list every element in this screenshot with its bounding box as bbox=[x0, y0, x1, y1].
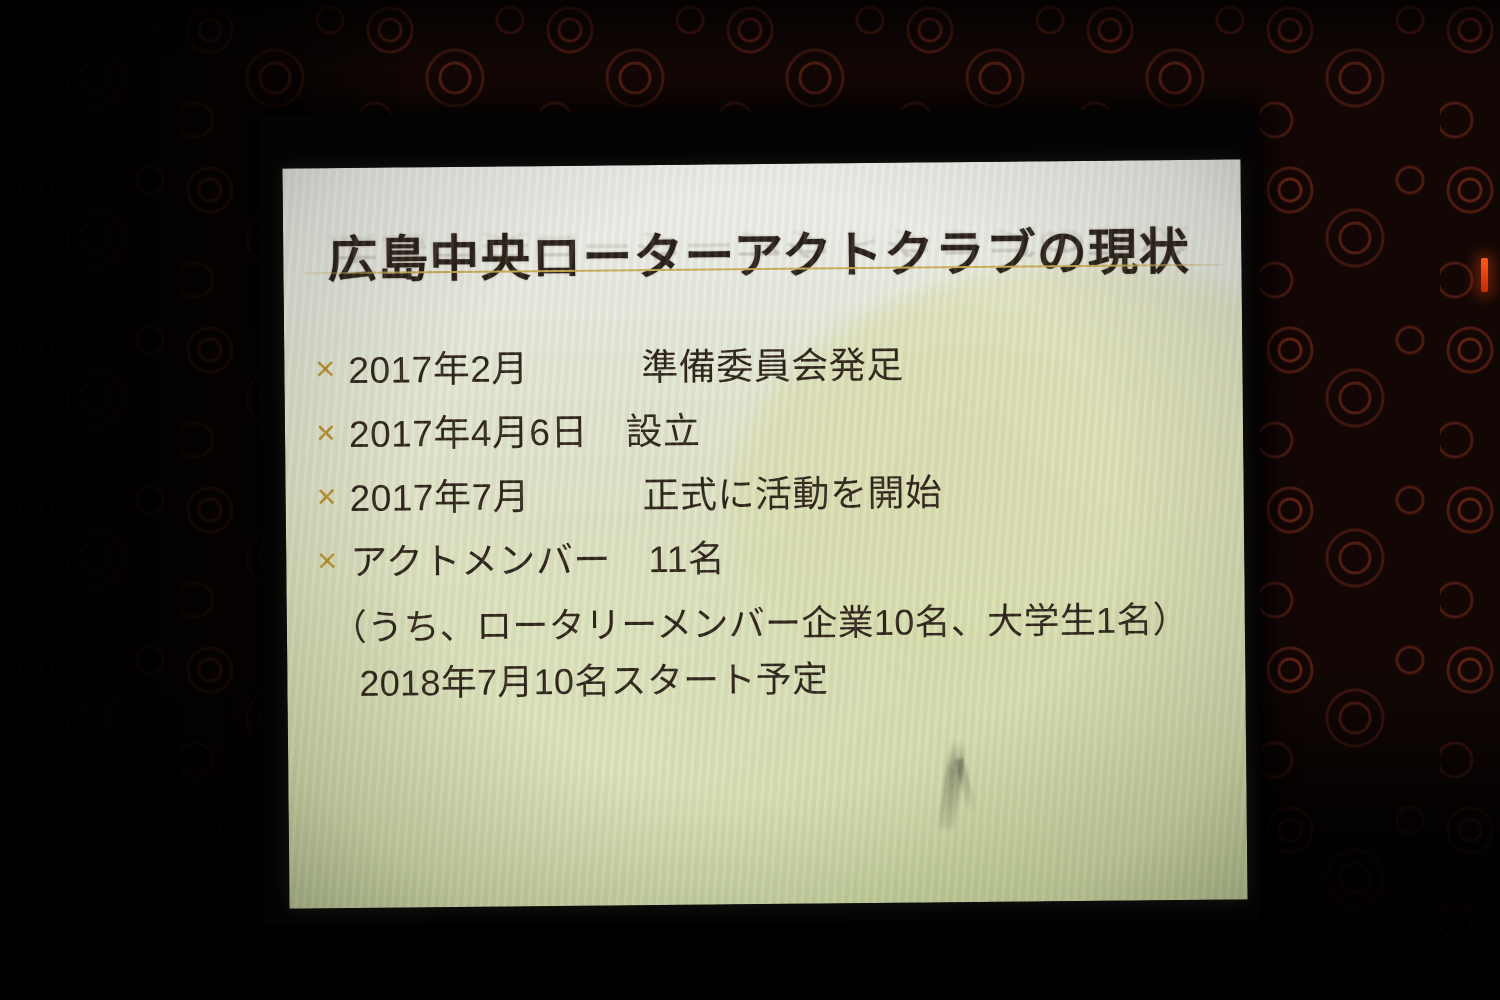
cross-bullet-icon: ✕ bbox=[314, 346, 348, 392]
list-item-label: アクトメンバー 11名 bbox=[350, 534, 726, 588]
list-item-label: 2017年4月6日 設立 bbox=[349, 407, 701, 460]
list-item: ✕ 2017年2月 準備委員会発足 bbox=[314, 338, 1215, 405]
list-item: ✕ アクトメンバー 11名 bbox=[316, 530, 1217, 597]
list-item: ✕ 2017年4月6日 設立 bbox=[315, 402, 1216, 469]
cross-bullet-icon: ✕ bbox=[316, 538, 350, 584]
list-item: ✕ 2017年7月 正式に活動を開始 bbox=[315, 466, 1216, 533]
bullet-list: ✕ 2017年2月 準備委員会発足 ✕ 2017年4月6日 設立 ✕ 2017年… bbox=[314, 338, 1217, 715]
list-item-label: 2017年7月 正式に活動を開始 bbox=[349, 468, 942, 524]
cross-bullet-icon: ✕ bbox=[315, 410, 349, 456]
note-line-forecast: 2018年7月10名スタート予定 bbox=[317, 650, 1217, 711]
projected-slide: 広島中央ローターアクトクラブの現状 広島中央ローターアクトクラブの現状 ✕ 20… bbox=[282, 159, 1247, 908]
cross-bullet-icon: ✕ bbox=[315, 474, 349, 520]
list-item-label: 2017年2月 準備委員会発足 bbox=[348, 341, 904, 396]
slide-content: 広島中央ローターアクトクラブの現状 広島中央ローターアクトクラブの現状 ✕ 20… bbox=[282, 159, 1247, 908]
note-line-breakdown: （うち、ロータリーメンバー企業10名、大学生1名） bbox=[317, 594, 1217, 655]
red-indicator-light bbox=[1481, 258, 1488, 292]
wall-shadow-top bbox=[0, 0, 1500, 70]
screenshot-root: 広島中央ローターアクトクラブの現状 広島中央ローターアクトクラブの現状 ✕ 20… bbox=[0, 0, 1500, 1000]
